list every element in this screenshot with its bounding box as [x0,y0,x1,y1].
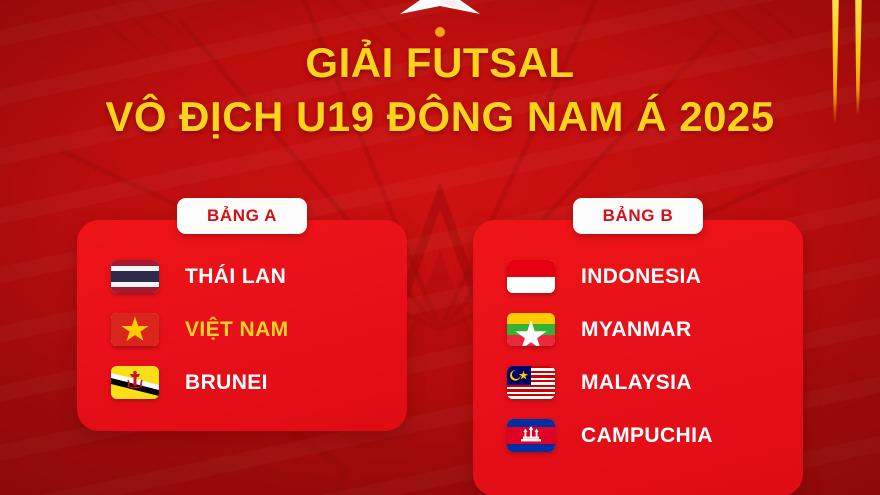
list-item[interactable]: THÁI LAN [77,250,407,303]
team-name: THÁI LAN [185,265,286,289]
brunei-flag-icon [111,366,159,399]
logo-dot-icon [435,27,445,37]
myanmar-flag-icon [507,313,555,346]
cambodia-flag-icon [507,419,555,452]
group-b-card: INDONESIA MYANMAR [473,220,803,495]
groups-container: BẢNG A THÁI LAN [0,198,880,495]
group-b-label: BẢNG B [603,206,674,226]
indonesia-flag-icon [507,260,555,293]
team-name: CAMPUCHIA [581,424,713,448]
list-item[interactable]: MALAYSIA [473,356,803,409]
list-item[interactable]: INDONESIA [473,250,803,303]
list-item[interactable]: VIỆT NAM [77,303,407,356]
group-a-label: BẢNG A [207,206,277,226]
title-line-2: VÔ ĐỊCH U19 ĐÔNG NAM Á 2025 [0,96,880,138]
group-a: BẢNG A THÁI LAN [77,198,407,495]
broadcaster-arrow-logo-icon [397,0,483,22]
tournament-group-draw-poster: GIẢI FUTSAL VÔ ĐỊCH U19 ĐÔNG NAM Á 2025 … [0,0,880,495]
group-b: BẢNG B INDONESIA [473,198,803,495]
list-item[interactable]: MYANMAR [473,303,803,356]
thailand-flag-icon [111,260,159,293]
team-name: BRUNEI [185,371,268,395]
group-b-header-badge: BẢNG B [573,198,703,234]
page-title: GIẢI FUTSAL VÔ ĐỊCH U19 ĐÔNG NAM Á 2025 [0,42,880,138]
list-item[interactable]: CAMPUCHIA [473,409,803,462]
vietnam-flag-icon [111,313,159,346]
malaysia-flag-icon [507,366,555,399]
team-name: INDONESIA [581,265,701,289]
team-name: MALAYSIA [581,371,692,395]
title-line-1: GIẢI FUTSAL [0,42,880,84]
team-name: MYANMAR [581,318,692,342]
list-item[interactable]: BRUNEI [77,356,407,409]
team-name: VIỆT NAM [185,318,289,342]
group-a-header-badge: BẢNG A [177,198,307,234]
group-a-card: THÁI LAN VIỆT NAM [77,220,407,431]
